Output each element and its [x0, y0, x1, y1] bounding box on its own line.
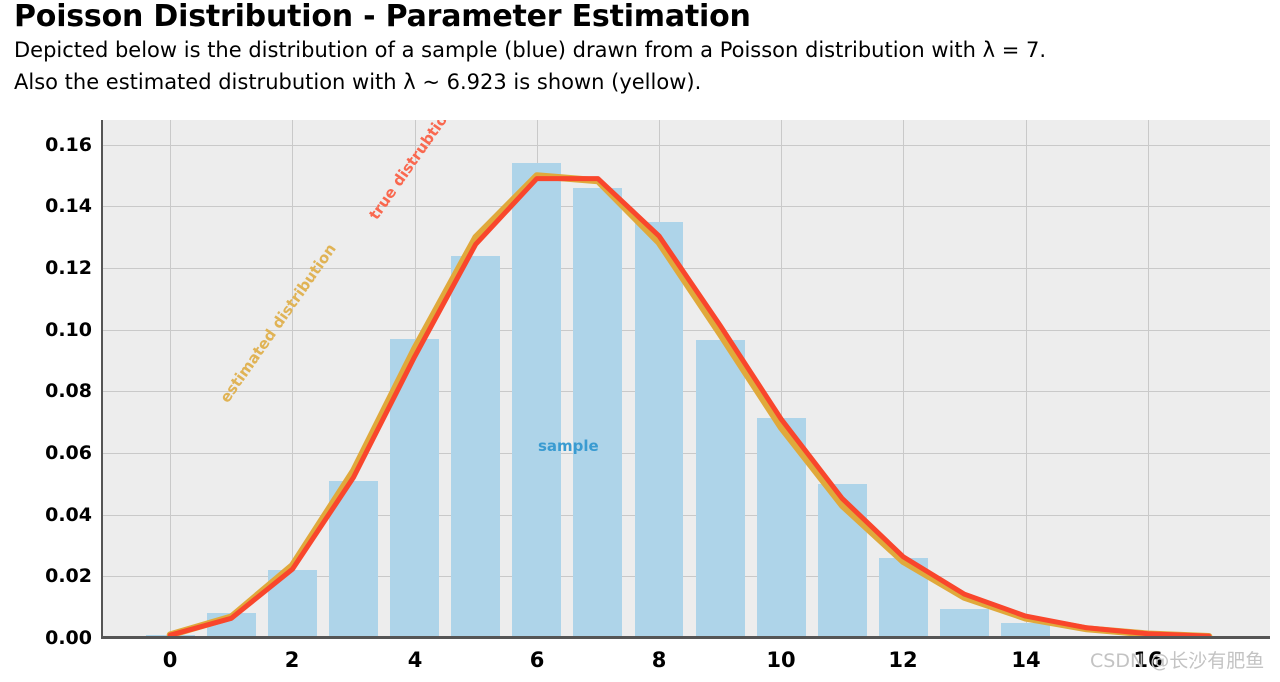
x-tick-label: 8 [652, 648, 667, 672]
plot-wrapper: sample estimated distribution true distr… [0, 118, 1280, 676]
x-tick-label: 12 [888, 648, 917, 672]
watermark: CSDN @长沙有肥鱼 [1090, 646, 1264, 673]
y-axis-line [101, 120, 103, 639]
x-tick-label: 6 [530, 648, 545, 672]
subtitle-line-1: Depicted below is the distribution of a … [14, 34, 1274, 66]
y-tick-label: 0.06 [8, 442, 92, 464]
y-tick-label: 0.12 [8, 257, 92, 279]
x-tick-label: 14 [1011, 648, 1040, 672]
x-tick-label: 0 [163, 648, 178, 672]
y-tick-label: 0.02 [8, 565, 92, 587]
y-tick-label: 0.14 [8, 195, 92, 217]
y-tick-label: 0.04 [8, 504, 92, 526]
subtitle-line-2: Also the estimated distrubution with λ ~… [14, 66, 1274, 98]
y-tick-label: 0.16 [8, 134, 92, 156]
x-tick-label: 4 [408, 648, 423, 672]
y-tick-label: 0.08 [8, 380, 92, 402]
chart-page: Poisson Distribution - Parameter Estimat… [0, 0, 1280, 676]
y-tick-label: 0.00 [8, 627, 92, 649]
x-axis-line [103, 636, 1270, 639]
x-tick-label: 2 [285, 648, 300, 672]
y-axis-tick-labels: 0.000.020.040.060.080.100.120.140.16 [0, 120, 1280, 638]
x-tick-label: 10 [766, 648, 795, 672]
chart-header: Poisson Distribution - Parameter Estimat… [14, 0, 1274, 98]
y-tick-label: 0.10 [8, 319, 92, 341]
page-title: Poisson Distribution - Parameter Estimat… [14, 0, 1274, 34]
